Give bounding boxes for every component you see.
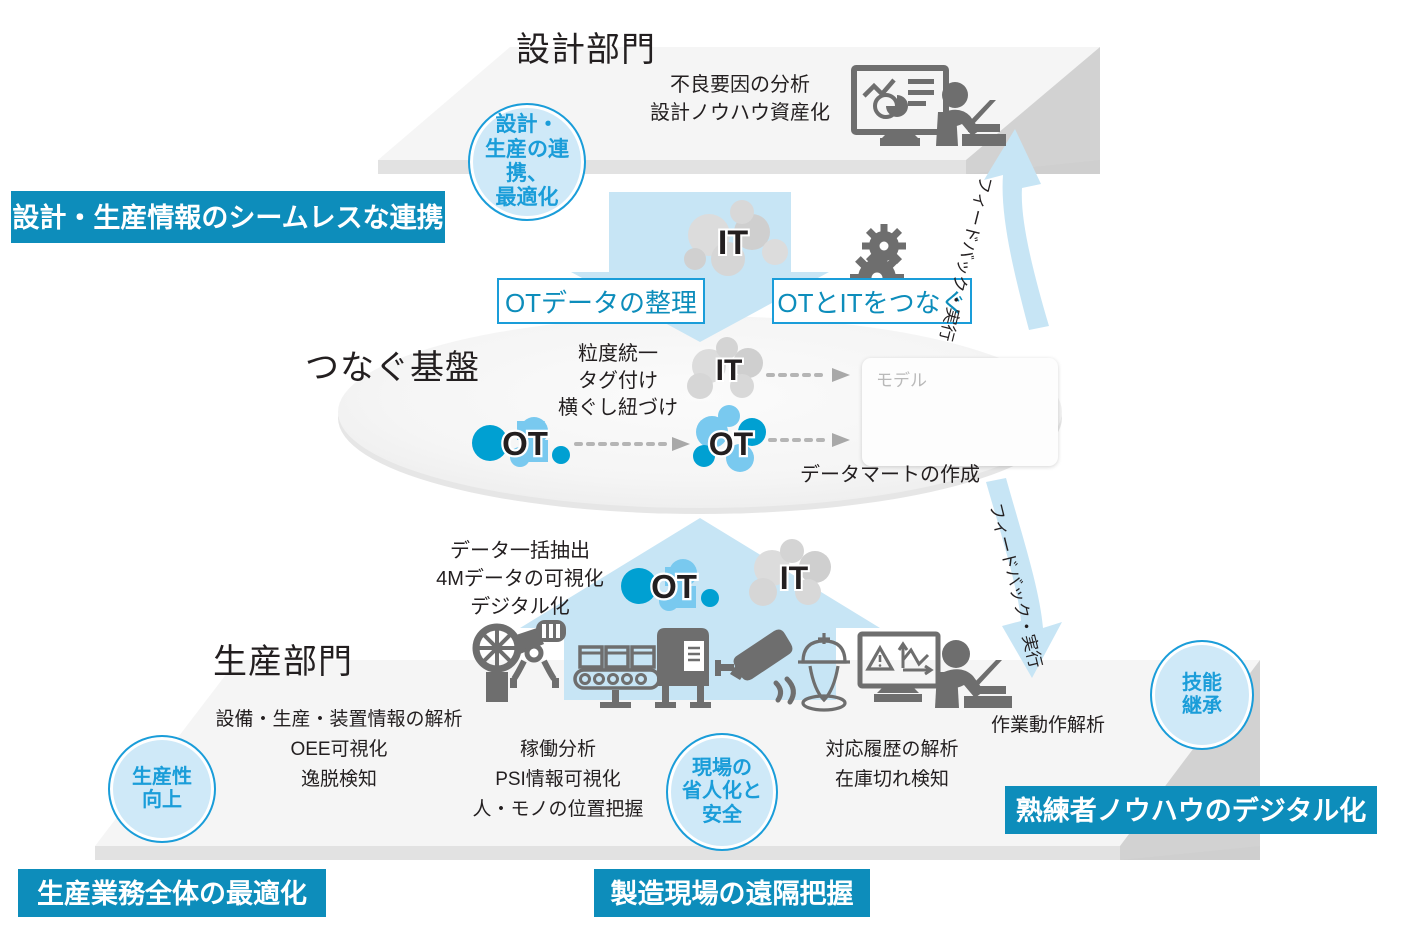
svg-text:IT: IT bbox=[716, 354, 743, 387]
badge-line: 安全 bbox=[682, 804, 762, 827]
production-top-note-2: 4Mデータの可視化 bbox=[400, 566, 640, 592]
production-note-g4-1: 作業動作解析 bbox=[978, 713, 1118, 739]
production-top-note-1: データ一括抽出 bbox=[420, 538, 620, 564]
design-note-2: 設計ノウハウ資産化 bbox=[630, 100, 850, 126]
alert-monitor-operator-icon bbox=[860, 634, 1012, 708]
badge-labor-saving-safety[interactable]: 現場の 省人化と 安全 bbox=[666, 733, 778, 851]
badge-design-production-link[interactable]: 設計・ 生産の連携、 最適化 bbox=[468, 103, 586, 221]
worker-helmet-icon bbox=[798, 633, 850, 710]
production-note-g1-3: 逸脱検知 bbox=[247, 767, 431, 793]
svg-text:OT: OT bbox=[709, 426, 754, 462]
production-note-g2-3: 人・モノの位置把握 bbox=[448, 797, 668, 823]
badge-line: 省人化と bbox=[682, 780, 762, 803]
security-camera-icon bbox=[715, 630, 793, 702]
badge-line: 向上 bbox=[132, 789, 192, 812]
datamart-note: データマートの作成 bbox=[780, 462, 1000, 488]
production-note-g1-1: 設備・生産・装置情報の解析 bbox=[207, 707, 471, 733]
banner-seamless-link[interactable]: 設計・生産情報のシームレスな連携 bbox=[11, 191, 445, 243]
it-cloud-icon-production: IT bbox=[749, 539, 831, 606]
it-cloud-icon-upper: IT bbox=[684, 200, 788, 276]
platform-title: つなぐ基盤 bbox=[305, 340, 480, 389]
svg-text:OT: OT bbox=[651, 568, 697, 605]
platform-note-1: 粒度統一 bbox=[528, 341, 708, 367]
production-note-g2-2: PSI情報可視化 bbox=[458, 767, 658, 793]
production-note-g1-2: OEE可視化 bbox=[247, 737, 431, 763]
badge-line: 現場の bbox=[682, 757, 762, 780]
svg-text:IT: IT bbox=[718, 224, 748, 262]
badge-productivity[interactable]: 生産性 向上 bbox=[108, 735, 216, 843]
badge-line: 継承 bbox=[1182, 695, 1222, 718]
badge-line: 生産の連携、 bbox=[470, 138, 584, 187]
svg-text:OT: OT bbox=[502, 425, 548, 462]
badge-skill-transfer[interactable]: 技能 継承 bbox=[1150, 640, 1254, 750]
production-note-g3-1: 対応履歴の解析 bbox=[805, 737, 979, 763]
infographic-canvas: IT bbox=[0, 0, 1402, 928]
model-card: モデル bbox=[862, 358, 1058, 466]
machine-cabinet-icon bbox=[655, 628, 711, 708]
production-department-title: 生産部門 bbox=[213, 634, 353, 683]
production-note-g2-1: 稼働分析 bbox=[468, 737, 648, 763]
banner-remote-monitoring[interactable]: 製造現場の遠隔把握 bbox=[594, 869, 870, 917]
platform-note-3: 横ぐし紐づけ bbox=[518, 395, 718, 421]
box-ot-data-organization[interactable]: OTデータの整理 bbox=[497, 278, 705, 324]
platform-note-2: タグ付け bbox=[528, 368, 708, 394]
design-note-1: 不良要因の分析 bbox=[640, 72, 840, 98]
badge-line: 最適化 bbox=[470, 186, 584, 210]
production-note-g3-2: 在庫切れ検知 bbox=[805, 767, 979, 793]
svg-text:IT: IT bbox=[780, 560, 809, 596]
design-department-title: 設計部門 bbox=[516, 22, 656, 71]
analyst-at-monitor-icon bbox=[854, 68, 1006, 146]
banner-expert-knowhow-digitalization[interactable]: 熟練者ノウハウのデジタル化 bbox=[1005, 786, 1377, 834]
ot-cloud-icon-left: OT bbox=[472, 417, 570, 467]
badge-line: 技能 bbox=[1182, 672, 1222, 695]
model-card-label: モデル bbox=[876, 366, 927, 391]
production-top-note-3: デジタル化 bbox=[430, 594, 610, 620]
badge-line: 設計・ bbox=[470, 113, 584, 137]
conveyor-belt-icon bbox=[575, 647, 659, 708]
banner-overall-optimization[interactable]: 生産業務全体の最適化 bbox=[18, 869, 326, 917]
robot-arm-icon bbox=[476, 620, 566, 702]
badge-line: 生産性 bbox=[132, 766, 192, 789]
